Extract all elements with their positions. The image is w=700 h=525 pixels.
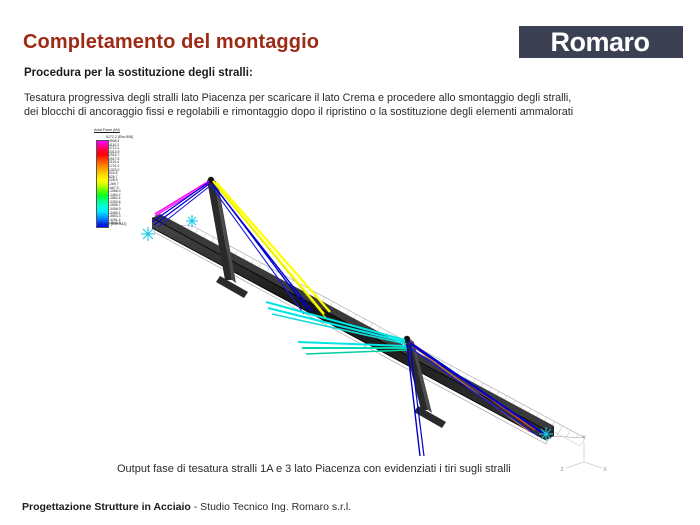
romaro-logo: Romaro — [519, 26, 683, 58]
footer-subtitle: - Studio Tecnico Ing. Romaro s.r.l. — [191, 501, 351, 513]
footer: Progettazione Strutture in Acciaio - Stu… — [22, 501, 351, 513]
axis-label-x: X — [603, 467, 607, 473]
body-line-2: dei blocchi di ancoraggio fissi e regola… — [24, 105, 674, 119]
page-title: Completamento del montaggio — [23, 31, 319, 54]
page-subtitle: Procedura per la sostituzione degli stra… — [24, 67, 253, 79]
footer-company: Progettazione Strutture in Acciaio — [22, 501, 191, 513]
axis-triad: Y Z X — [558, 428, 610, 474]
body-line-1: Tesatura progressiva degli stralli lato … — [24, 91, 674, 105]
figure-caption: Output fase di tesatura stralli 1A e 3 l… — [117, 463, 511, 475]
slide-root: Romaro Completamento del montaggio Proce… — [0, 0, 700, 525]
right-stay-cables — [266, 302, 544, 456]
axis-label-y: Y — [582, 435, 586, 441]
logo-text: Romaro — [550, 29, 649, 56]
body-text: Tesatura progressiva degli stralli lato … — [24, 91, 674, 119]
fea-model-viewport — [80, 126, 625, 456]
axis-label-z: Z — [560, 467, 563, 473]
